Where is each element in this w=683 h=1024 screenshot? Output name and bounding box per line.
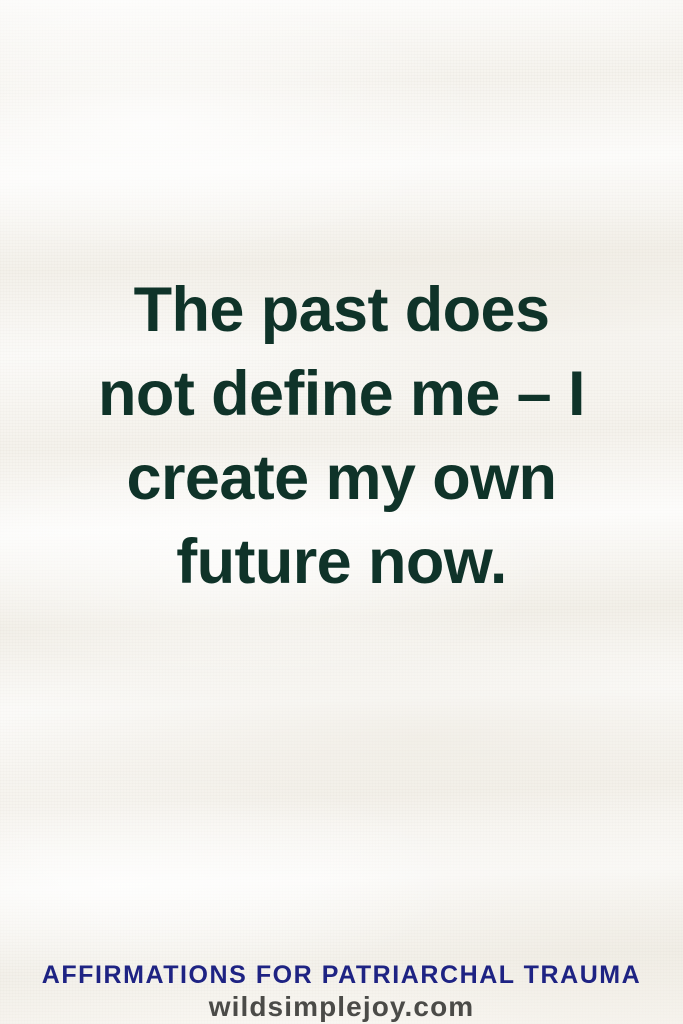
affirmation-quote: The past does not define me – I create m…	[0, 268, 683, 604]
footer-category-title: AFFIRMATIONS FOR PATRIARCHAL TRAUMA	[0, 960, 683, 990]
footer-website-url[interactable]: wildsimplejoy.com	[0, 990, 683, 1024]
quote-line-4: future now.	[28, 520, 655, 604]
quote-line-1: The past does	[28, 268, 655, 352]
pinterest-quote-graphic: The past does not define me – I create m…	[0, 0, 683, 1024]
footer: AFFIRMATIONS FOR PATRIARCHAL TRAUMA wild…	[0, 960, 683, 1024]
quote-line-2: not define me – I	[28, 352, 655, 436]
quote-line-3: create my own	[28, 436, 655, 520]
